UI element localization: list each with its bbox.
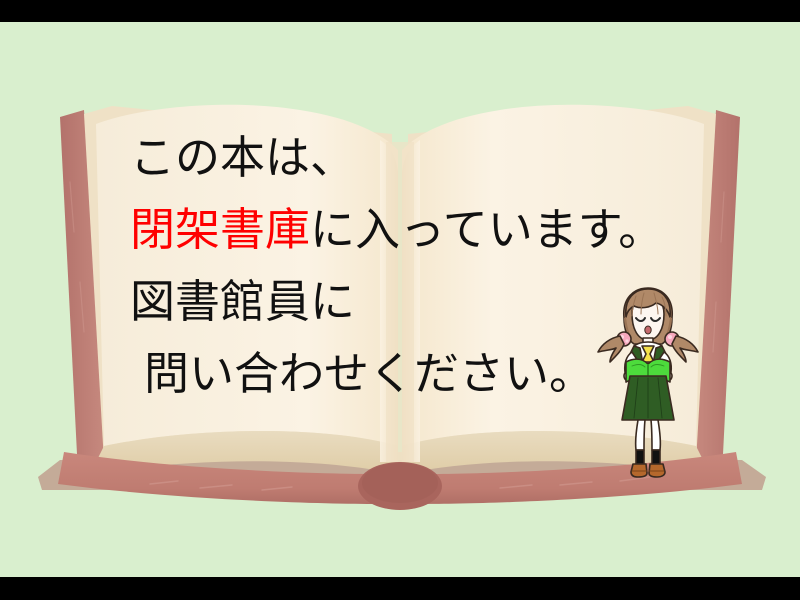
letterbox-bottom xyxy=(0,577,800,600)
girl-reading-icon xyxy=(596,284,700,484)
slide-canvas: この本は、 閉架書庫に入っています。 図書館員に 問い合わせください。 xyxy=(0,0,800,600)
letterbox-top xyxy=(0,0,800,22)
mint-background: この本は、 閉架書庫に入っています。 図書館員に 問い合わせください。 xyxy=(0,22,800,577)
